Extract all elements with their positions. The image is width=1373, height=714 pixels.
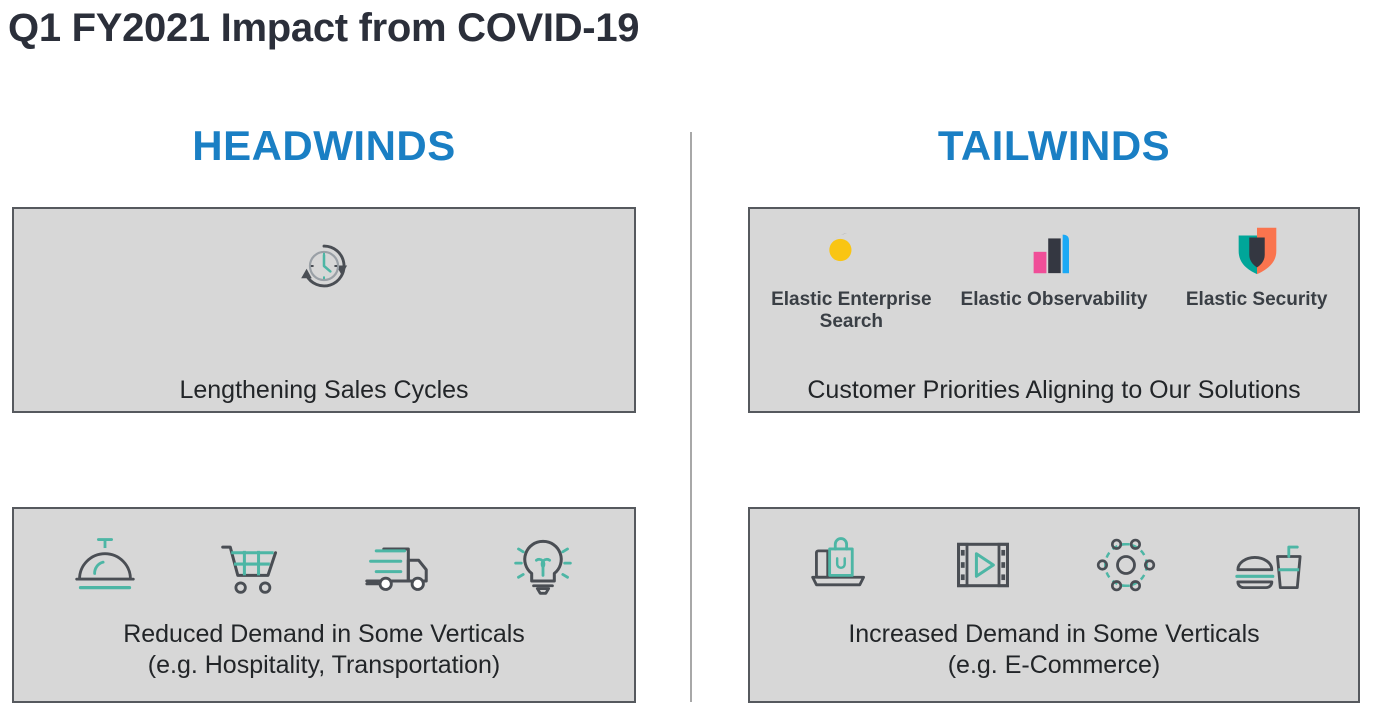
elastic-security-logo: [1229, 221, 1285, 279]
icon-cell: [55, 527, 155, 607]
tailwinds-card-solutions: Elastic Enterprise Search Elastic Observ…: [748, 207, 1360, 413]
service-bell-icon: [69, 532, 141, 603]
page-title: Q1 FY2021 Impact from COVID-19: [8, 6, 639, 51]
headwinds-card-caption: Lengthening Sales Cycles: [14, 375, 634, 406]
icon-cell: [933, 527, 1033, 607]
delivery-truck-icon: [359, 532, 435, 603]
product-name: Elastic Observability: [961, 289, 1148, 311]
elastic-enterprise-search-logo: [822, 221, 880, 279]
caption-line-1: Reduced Demand in Some Verticals: [123, 620, 525, 648]
icon-cell: [347, 527, 447, 607]
shopping-cart-icon: [215, 532, 287, 603]
product-security: Elastic Security: [1157, 221, 1357, 311]
product-name: Elastic Security: [1186, 289, 1328, 311]
caption-line-2: (e.g. E-Commerce): [750, 650, 1358, 681]
lightbulb-icon: [508, 532, 578, 603]
product-enterprise-search: Elastic Enterprise Search: [751, 221, 951, 334]
film-strip-play-icon: [950, 533, 1016, 602]
elastic-products-row: Elastic Enterprise Search Elastic Observ…: [750, 221, 1358, 334]
caption-line-2: (e.g. Hospitality, Transportation): [14, 650, 634, 681]
network-nodes-icon: [1091, 532, 1161, 603]
product-observability: Elastic Observability: [954, 221, 1154, 311]
product-name: Elastic Enterprise Search: [751, 289, 951, 334]
tailwinds-card-increased-demand: Increased Demand in Some Verticals (e.g.…: [748, 507, 1360, 703]
headwinds-reduced-demand-caption: Reduced Demand in Some Verticals (e.g. H…: [14, 619, 634, 680]
tailwinds-increased-demand-caption: Increased Demand in Some Verticals (e.g.…: [750, 619, 1358, 680]
headwinds-card-reduced-demand: Reduced Demand in Some Verticals (e.g. H…: [12, 507, 636, 703]
icon-cell: [1076, 527, 1176, 607]
icon-cell: [1219, 527, 1319, 607]
burger-drink-icon: [1232, 532, 1306, 603]
tailwinds-card-caption: Customer Priorities Aligning to Our Solu…: [750, 375, 1358, 406]
caption-line-1: Customer Priorities Aligning to Our Solu…: [807, 376, 1300, 404]
icon-cell: [493, 527, 593, 607]
elastic-observability-logo: [1026, 221, 1082, 279]
icon-cell: [201, 527, 301, 607]
tailwinds-vertical-icons: [750, 527, 1358, 607]
column-divider: [690, 132, 692, 702]
caption-line-1: Increased Demand in Some Verticals: [848, 620, 1259, 648]
headwinds-vertical-icons: [14, 527, 634, 607]
slide-root: Q1 FY2021 Impact from COVID-19 HEADWINDS…: [0, 0, 1373, 714]
clock-icon-wrap: [14, 237, 634, 300]
headwinds-card-sales-cycles: Lengthening Sales Cycles: [12, 207, 636, 413]
tailwinds-heading: TAILWINDS: [748, 122, 1360, 170]
headwinds-heading: HEADWINDS: [12, 122, 636, 170]
caption-line-1: Lengthening Sales Cycles: [179, 376, 468, 404]
icon-cell: [790, 527, 890, 607]
laptop-shopping-bag-icon: [805, 532, 875, 603]
clock-history-icon: [295, 237, 353, 300]
